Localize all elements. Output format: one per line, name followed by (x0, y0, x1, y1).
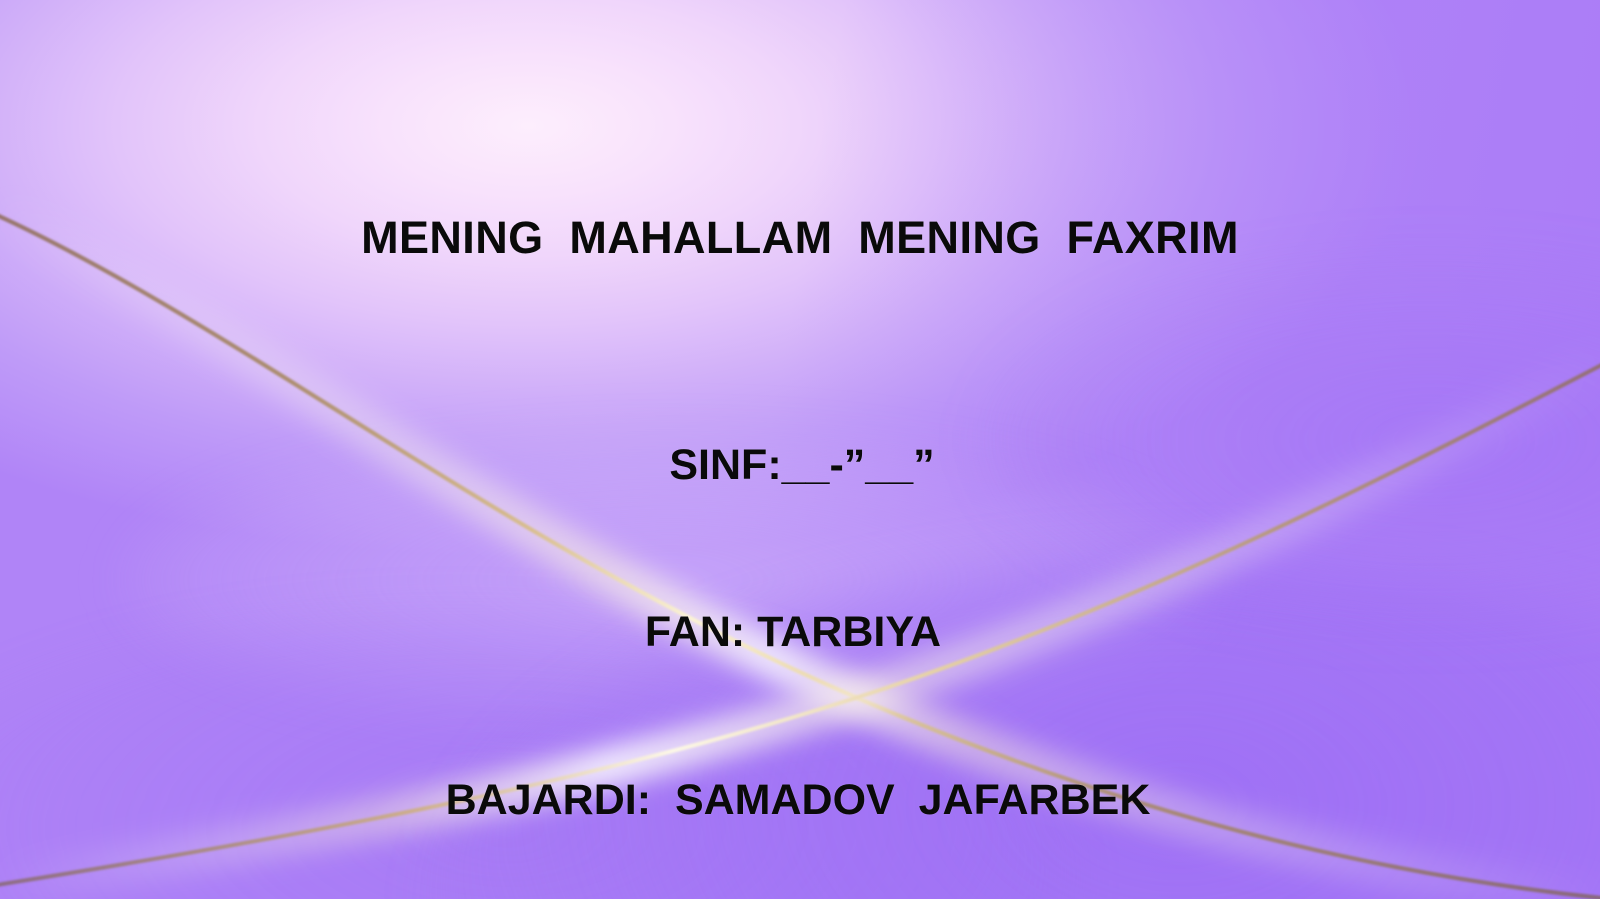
slide-subtitle-block: SINF:__-”__” FAN: TARBIYA BAJARDI: SAMAD… (450, 326, 1151, 899)
subtitle-line-author-first: BAJARDI: SAMADOV JAFARBEK (446, 773, 1151, 829)
subtitle-line-class: SINF:__-”__” (454, 438, 1151, 494)
subtitle-line-subject: FAN: TARBIYA (436, 605, 1151, 661)
presentation-slide: MENING MAHALLAM MENING FAXRIM SINF:__-”_… (0, 0, 1600, 899)
page-title: MENING MAHALLAM MENING FAXRIM (361, 212, 1239, 264)
slide-text-container: MENING MAHALLAM MENING FAXRIM SINF:__-”_… (0, 0, 1600, 899)
